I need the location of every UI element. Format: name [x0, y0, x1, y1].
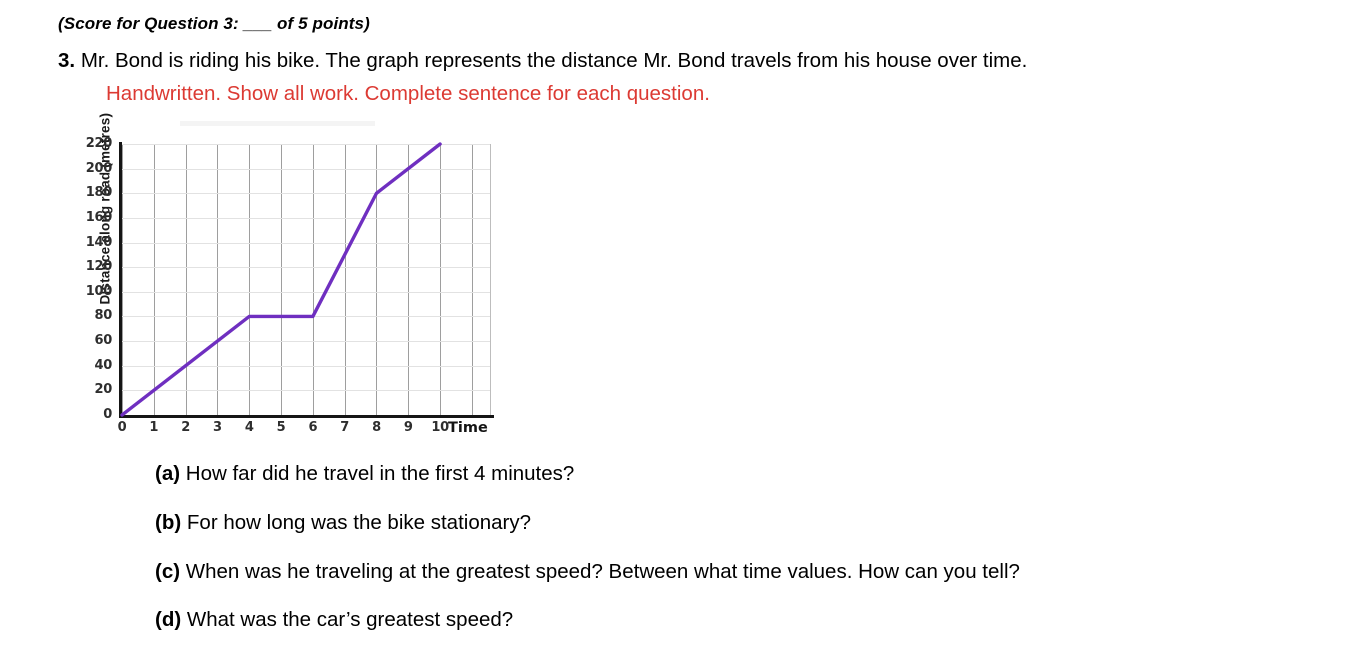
sub-question-c: (c) When was he traveling at the greates… — [155, 560, 1020, 584]
sub-question-b-text: For how long was the bike stationary? — [187, 511, 531, 534]
sub-question-a-text: How far did he travel in the first 4 min… — [186, 462, 575, 485]
score-line: (Score for Question 3: ___ of 5 points) — [58, 14, 370, 34]
sub-question-b-tag: (b) — [155, 511, 181, 534]
worksheet-page: (Score for Question 3: ___ of 5 points) … — [0, 0, 1353, 646]
scan-artifact — [180, 121, 375, 126]
sub-question-d: (d) What was the car’s greatest speed? — [155, 608, 513, 632]
distance-time-graph: Distance along road (metres) 22020018016… — [58, 128, 508, 444]
sub-question-a: (a) How far did he travel in the first 4… — [155, 462, 574, 486]
question-number: 3. — [58, 49, 75, 72]
series-line — [122, 144, 440, 415]
question-text: Mr. Bond is riding his bike. The graph r… — [81, 49, 1028, 72]
question-statement: 3. Mr. Bond is riding his bike. The grap… — [58, 49, 1338, 73]
sub-question-d-tag: (d) — [155, 608, 181, 631]
sub-question-c-tag: (c) — [155, 560, 180, 583]
sub-question-a-tag: (a) — [155, 462, 180, 485]
sub-question-d-text: What was the car’s greatest speed? — [187, 608, 513, 631]
series-line-layer — [58, 128, 508, 444]
instruction-note: Handwritten. Show all work. Complete sen… — [106, 82, 710, 106]
sub-question-c-text: When was he traveling at the greatest sp… — [186, 560, 1020, 583]
sub-question-b: (b) For how long was the bike stationary… — [155, 511, 531, 535]
